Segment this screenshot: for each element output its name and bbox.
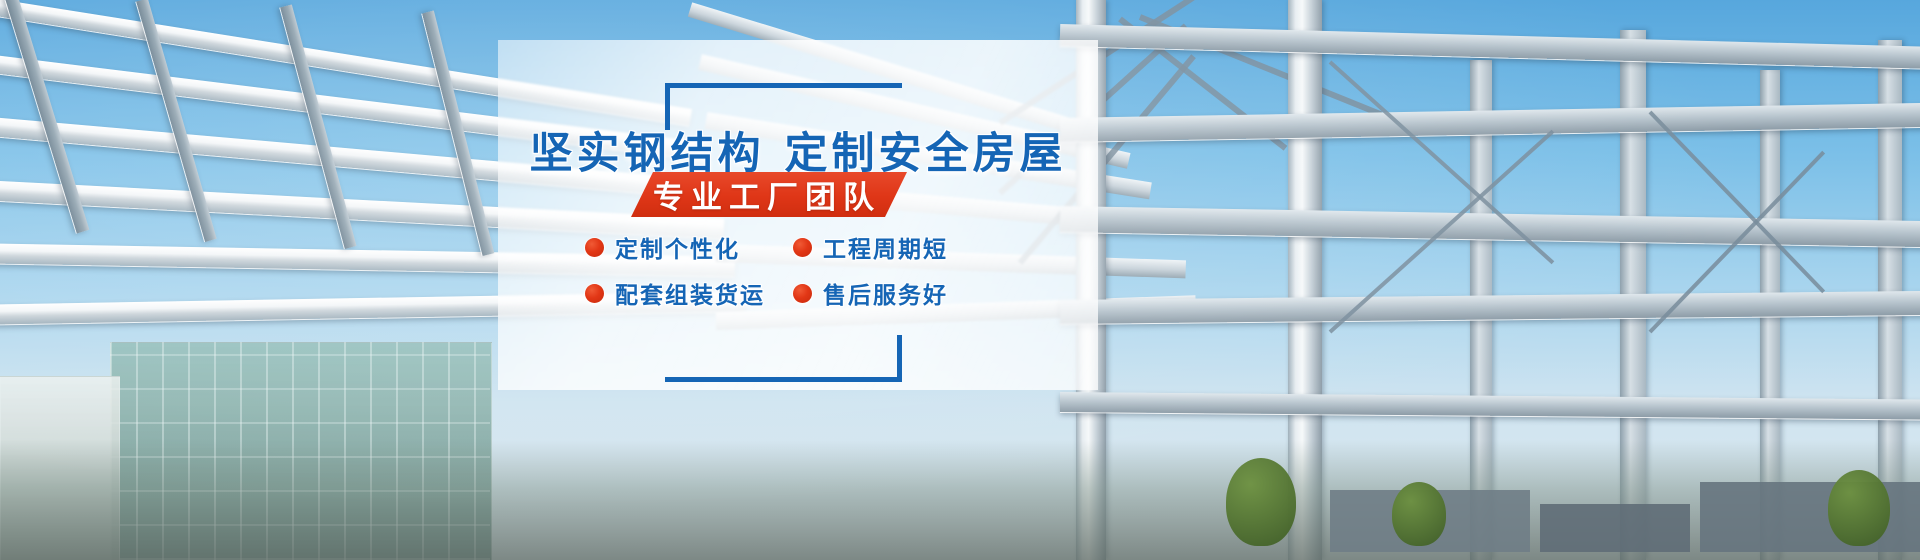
red-dot-icon [793, 238, 812, 257]
feature-list: 定制个性化 工程周期短 配套组装货运 售后服务好 [585, 228, 1025, 312]
feature-label: 工程周期短 [823, 230, 948, 264]
tree [1828, 470, 1890, 546]
feature-item: 工程周期短 [793, 228, 1005, 266]
red-dot-icon [585, 238, 604, 257]
subtitle-ribbon: 专业工厂团队 [631, 172, 907, 217]
tree [1392, 482, 1446, 546]
feature-item: 售后服务好 [793, 274, 1005, 312]
hero-banner: 坚实钢结构定制安全房屋 专业工厂团队 定制个性化 工程周期短 配套组装货运 售后… [0, 0, 1920, 560]
corner-bracket-bottom-right [665, 335, 902, 382]
subtitle-ribbon-label: 专业工厂团队 [653, 172, 881, 217]
red-dot-icon [793, 284, 812, 303]
tree [1226, 458, 1296, 546]
red-dot-icon [585, 284, 604, 303]
headline-part-2: 定制安全房屋 [785, 130, 1067, 178]
feature-item: 配套组装货运 [585, 274, 793, 312]
feature-label: 定制个性化 [615, 230, 740, 264]
feature-label: 配套组装货运 [615, 276, 765, 310]
headline-part-1: 坚实钢结构 [530, 130, 765, 178]
feature-item: 定制个性化 [585, 228, 793, 266]
distant-building [1540, 504, 1690, 552]
feature-label: 售后服务好 [823, 276, 948, 310]
page-title: 坚实钢结构定制安全房屋 [498, 119, 1098, 181]
